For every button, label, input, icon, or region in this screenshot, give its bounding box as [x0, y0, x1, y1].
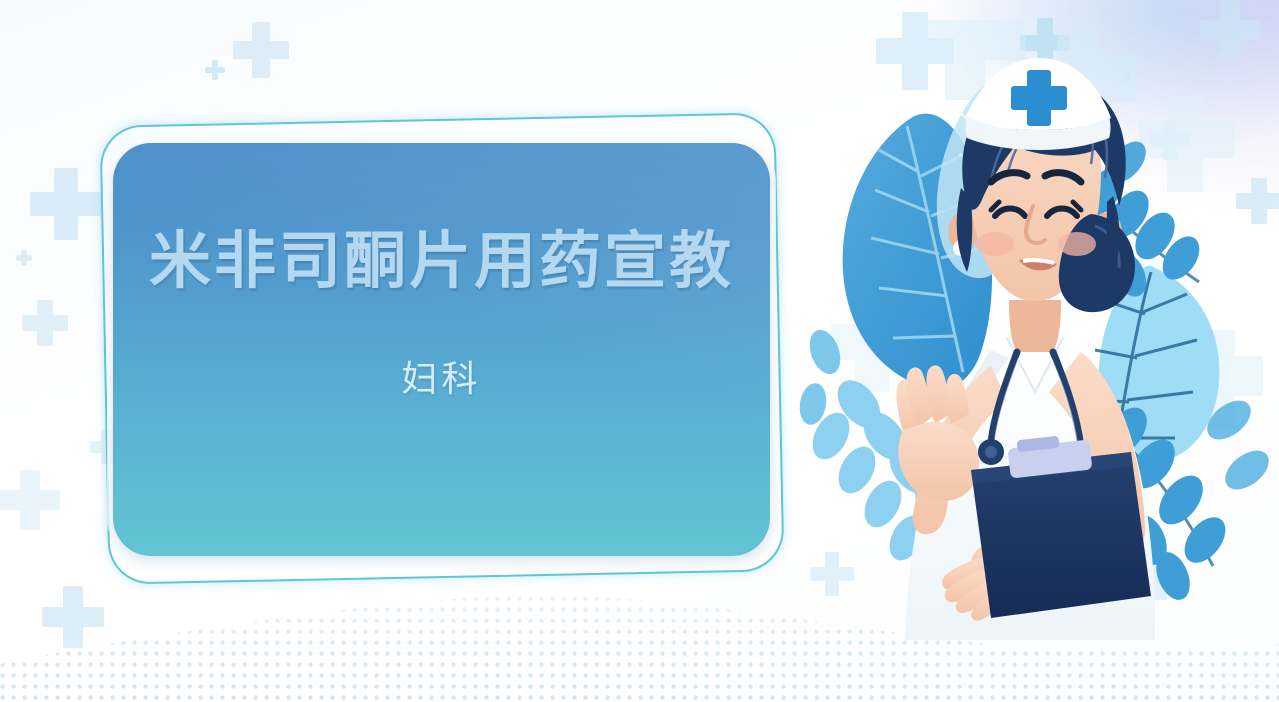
- cross-icon: [0, 470, 60, 530]
- page-title: 米非司酮片用药宣教: [149, 231, 734, 293]
- cross-icon: [205, 60, 225, 80]
- cheek-right: [1058, 232, 1096, 256]
- cross-icon: [233, 22, 289, 78]
- card-text-block: 米非司酮片用药宣教 妇科: [113, 143, 770, 556]
- cross-icon: [16, 250, 32, 266]
- cross-icon: [22, 300, 68, 346]
- title-card: 米非司酮片用药宣教 妇科: [113, 143, 770, 556]
- page-subtitle: 妇科: [401, 361, 481, 397]
- presentation-slide: 米非司酮片用药宣教 妇科: [0, 0, 1279, 702]
- cross-icon: [30, 168, 102, 240]
- cheek-left: [976, 232, 1014, 256]
- nurse-illustration: [795, 0, 1279, 640]
